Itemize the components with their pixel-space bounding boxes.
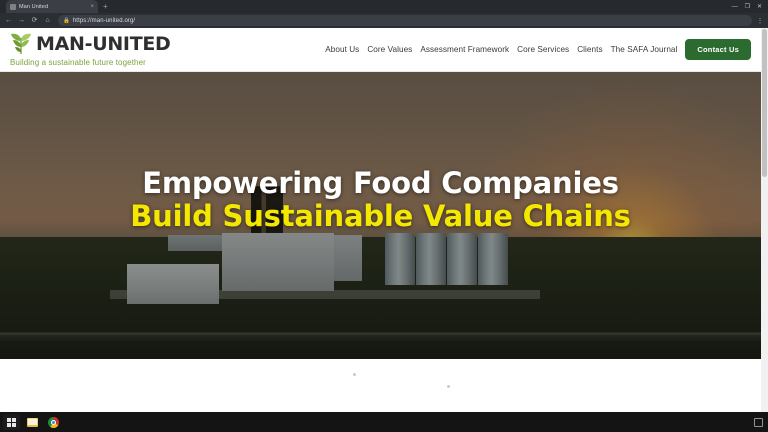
nav-item-the-safa-journal[interactable]: The SAFA Journal bbox=[611, 45, 678, 54]
minimize-icon[interactable]: — bbox=[732, 4, 738, 10]
carousel-dot[interactable] bbox=[353, 373, 356, 376]
window-controls: — ❐ ✕ bbox=[732, 0, 766, 13]
tab-strip: Man United × + — ❐ ✕ bbox=[0, 0, 768, 13]
tray-icon[interactable] bbox=[754, 418, 763, 427]
logo-row: MAN-UNITED bbox=[8, 32, 171, 56]
back-icon[interactable]: ← bbox=[4, 17, 13, 24]
new-tab-button[interactable]: + bbox=[103, 0, 108, 13]
address-bar[interactable]: 🔒 https://man-united.org/ bbox=[58, 15, 752, 26]
page-scrollbar[interactable] bbox=[761, 28, 768, 412]
nav-item-core-values[interactable]: Core Values bbox=[367, 45, 412, 54]
windows-taskbar bbox=[0, 412, 768, 432]
chrome-taskbar-button[interactable] bbox=[45, 414, 62, 430]
page-viewport: MAN-UNITED Building a sustainable future… bbox=[0, 28, 768, 412]
site-logo[interactable]: MAN-UNITED Building a sustainable future… bbox=[8, 32, 171, 67]
shield-favicon-icon bbox=[10, 4, 16, 10]
logo-tagline: Building a sustainable future together bbox=[10, 58, 171, 67]
nav-item-clients[interactable]: Clients bbox=[577, 45, 602, 54]
lock-icon: 🔒 bbox=[63, 18, 70, 24]
home-icon[interactable]: ⌂ bbox=[43, 17, 52, 24]
start-button[interactable] bbox=[3, 414, 20, 430]
browser-toolbar: ← → ⟳ ⌂ 🔒 https://man-united.org/ ⋮ bbox=[0, 13, 768, 28]
hero-headline-line2: Build Sustainable Value Chains bbox=[0, 201, 761, 232]
nav-item-assessment-framework[interactable]: Assessment Framework bbox=[420, 45, 509, 54]
close-icon[interactable]: × bbox=[90, 4, 94, 10]
logo-wordmark: MAN-UNITED bbox=[36, 35, 171, 54]
hero-banner: Empowering Food Companies Build Sustaina… bbox=[0, 72, 761, 359]
reload-icon[interactable]: ⟳ bbox=[30, 17, 39, 24]
forward-icon[interactable]: → bbox=[17, 17, 26, 24]
screen: Man United × + — ❐ ✕ ← → ⟳ ⌂ 🔒 https://m… bbox=[0, 0, 768, 432]
contact-us-button[interactable]: Contact Us bbox=[685, 39, 751, 60]
close-window-icon[interactable]: ✕ bbox=[757, 4, 762, 10]
hero-copy: Empowering Food Companies Build Sustaina… bbox=[0, 168, 761, 233]
nav-item-about-us[interactable]: About Us bbox=[325, 45, 359, 54]
tab-title: Man United bbox=[19, 4, 87, 10]
carousel-dot[interactable] bbox=[447, 385, 450, 388]
file-explorer-button[interactable] bbox=[24, 414, 41, 430]
nav-item-core-services[interactable]: Core Services bbox=[517, 45, 569, 54]
main-nav: About Us Core Values Assessment Framewor… bbox=[325, 39, 751, 60]
browser-tab[interactable]: Man United × bbox=[6, 0, 98, 13]
maximize-icon[interactable]: ❐ bbox=[745, 4, 750, 10]
hero-headline-line1: Empowering Food Companies bbox=[0, 168, 761, 199]
chrome-icon bbox=[48, 417, 59, 428]
browser-menu-icon[interactable]: ⋮ bbox=[756, 17, 764, 25]
url-text: https://man-united.org/ bbox=[73, 18, 135, 24]
content-section bbox=[0, 359, 761, 412]
system-tray bbox=[754, 418, 768, 427]
windows-logo-icon bbox=[7, 418, 16, 427]
folder-icon bbox=[27, 418, 38, 427]
browser-window: Man United × + — ❐ ✕ ← → ⟳ ⌂ 🔒 https://m… bbox=[0, 0, 768, 412]
scrollbar-thumb[interactable] bbox=[762, 29, 767, 177]
leaf-icon bbox=[8, 32, 34, 56]
site-header: MAN-UNITED Building a sustainable future… bbox=[0, 28, 761, 72]
